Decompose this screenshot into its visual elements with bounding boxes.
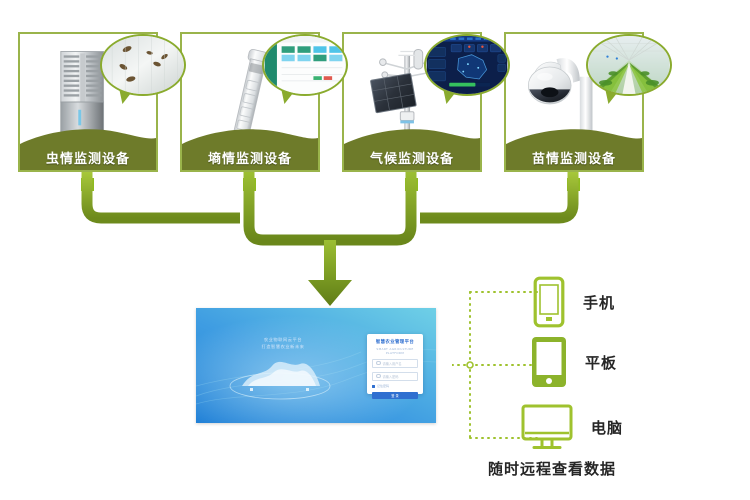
bubble-ellipse <box>262 34 348 96</box>
mobile-phone-icon <box>533 276 565 328</box>
login-submit-button[interactable]: 登 录 <box>372 392 418 399</box>
platform-login-screenshot[interactable]: 农业物联网云平台 打造智慧农业新未来 智慧农业管理平台 SMART AGRICU… <box>196 308 436 423</box>
device-label: 手机 <box>583 292 615 313</box>
user-icon <box>376 361 381 366</box>
bubble-ellipse <box>100 34 186 96</box>
lock-icon <box>376 374 381 379</box>
infographic-canvas: 虫情监测设备 <box>0 0 750 500</box>
login-card[interactable]: 智慧农业管理平台 SMART AGRICULTURE PLATFORM 请输入用… <box>367 334 423 394</box>
insect-photo-bubble <box>100 34 186 96</box>
greenhouse-crop-bubble <box>586 34 672 96</box>
device-row-phone[interactable]: 手机 <box>533 276 615 328</box>
panel-label: 苗情监测设备 <box>506 144 642 170</box>
remote-access-caption: 随时远程查看数据 <box>488 458 708 479</box>
bubble-ellipse <box>424 34 510 96</box>
checkbox-box <box>372 385 375 388</box>
desktop-monitor-icon <box>521 404 573 450</box>
username-field[interactable]: 请输入用户名 <box>372 359 418 368</box>
device-label: 电脑 <box>591 417 623 438</box>
remember-label: 记住密码 <box>377 384 389 388</box>
bubble-ellipse <box>586 34 672 96</box>
tablet-icon <box>531 336 567 388</box>
panel-label: 气候监测设备 <box>344 144 480 170</box>
dashboard-hero-text: 农业物联网云平台 打造智慧农业新未来 <box>238 336 328 350</box>
flow-connector-arrow <box>0 168 750 308</box>
soil-data-table-bubble <box>262 34 348 96</box>
device-row-tablet[interactable]: 平板 <box>531 336 617 388</box>
login-title: 智慧农业管理平台 <box>372 339 418 345</box>
panel-label: 墒情监测设备 <box>182 144 318 170</box>
login-subtitle: SMART AGRICULTURE PLATFORM <box>372 347 418 355</box>
panel-label: 虫情监测设备 <box>20 144 156 170</box>
remember-password-checkbox[interactable]: 记住密码 <box>372 384 418 388</box>
password-placeholder: 请输入密码 <box>383 374 399 379</box>
username-placeholder: 请输入用户名 <box>383 361 402 366</box>
device-label: 平板 <box>585 352 617 373</box>
password-field[interactable]: 请输入密码 <box>372 372 418 381</box>
climate-dashboard-bubble <box>424 34 510 96</box>
device-row-computer[interactable]: 电脑 <box>521 404 623 450</box>
